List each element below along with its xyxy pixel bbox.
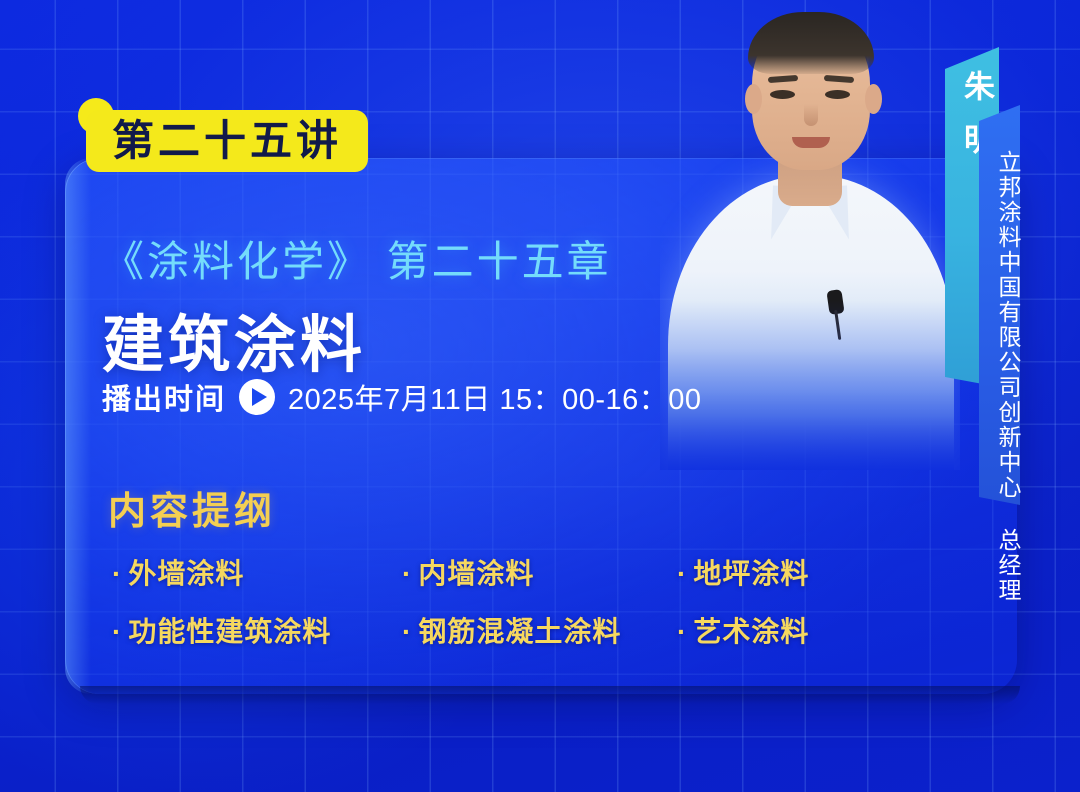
presenter-nose: [804, 104, 818, 126]
list-item: ·功能性建筑涂料: [112, 610, 402, 650]
bullet-icon: ·: [112, 558, 122, 589]
episode-badge-label: 第二十五讲: [112, 120, 342, 162]
episode-badge: 第二十五讲: [86, 110, 368, 172]
presenter-mouth: [792, 137, 830, 148]
play-icon[interactable]: [239, 379, 275, 415]
page-title: 建筑涂料: [102, 294, 366, 384]
presenter-ear-left: [745, 84, 762, 114]
bullet-icon: ·: [402, 558, 412, 589]
presenter-eye-right: [825, 90, 850, 99]
outline-heading: 内容提纲: [108, 480, 276, 535]
presenter-eye-left: [770, 90, 795, 99]
list-item: ·地坪涂料: [677, 552, 872, 592]
bullet-icon: ·: [677, 616, 687, 647]
list-item-label: 外墙涂料: [128, 558, 244, 589]
presenter-hair: [748, 12, 874, 74]
list-item-label: 功能性建筑涂料: [128, 616, 331, 647]
presenter-photo-fade: [660, 300, 960, 470]
list-item: ·内墙涂料: [402, 552, 677, 592]
list-item: ·外墙涂料: [112, 552, 402, 592]
course-preview-poster: 第二十五讲 《涂料化学》 第二十五章 建筑涂料 播出时间 2025年7月11日 …: [0, 0, 1080, 792]
bullet-icon: ·: [112, 616, 122, 647]
speaker-title: 立邦涂料中国有限公司创新中心 总经理: [980, 150, 1020, 603]
bullet-icon: ·: [677, 558, 687, 589]
list-item-label: 艺术涂料: [693, 616, 809, 647]
presenter-ear-right: [865, 84, 882, 114]
broadcast-time-label: 播出时间: [102, 376, 226, 418]
broadcast-time-value: 2025年7月11日 15：00-16：00: [288, 376, 702, 418]
bullet-icon: ·: [402, 616, 412, 647]
outline-list: ·外墙涂料 ·内墙涂料 ·地坪涂料 ·功能性建筑涂料 ·钢筋混凝土涂料 ·艺术涂…: [112, 552, 872, 650]
course-subtitle: 《涂料化学》 第二十五章: [102, 228, 612, 289]
list-item: ·艺术涂料: [677, 610, 872, 650]
list-item-label: 内墙涂料: [418, 558, 534, 589]
presenter-photo: [660, 0, 960, 470]
broadcast-time-row: 播出时间 2025年7月11日 15：00-16：00: [102, 376, 702, 418]
list-item: ·钢筋混凝土涂料: [402, 610, 677, 650]
list-item-label: 钢筋混凝土涂料: [418, 616, 621, 647]
list-item-label: 地坪涂料: [693, 558, 809, 589]
